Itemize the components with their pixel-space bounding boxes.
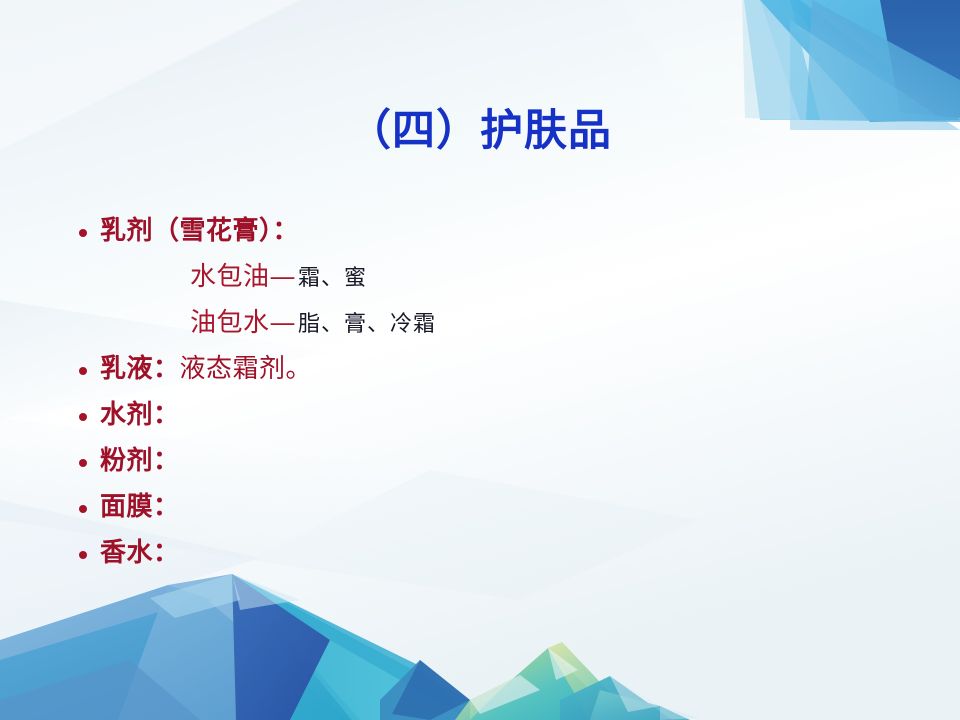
- list-item-label: 乳剂（雪花膏）：: [100, 210, 299, 247]
- list-item[interactable]: 面膜：: [70, 486, 900, 532]
- bullet-dot-icon: [70, 498, 100, 520]
- bullet-dot-icon: [70, 452, 100, 474]
- slide-content: （四）护肤品 乳剂（雪花膏）： 水包油— 霜、蜜 油包水— 脂、膏、冷霜 乳液：…: [0, 0, 960, 720]
- list-item-label-detail: 液态霜剂。: [180, 354, 313, 384]
- list-item[interactable]: 粉剂：: [70, 440, 900, 486]
- sub-list-item: 油包水— 脂、膏、冷霜: [70, 302, 900, 348]
- page-title: （四）护肤品: [0, 96, 960, 158]
- list-item-label: 粉剂：: [100, 440, 180, 477]
- bullet-dot-icon: [70, 544, 100, 566]
- sub-item-lead: 油包水—: [190, 302, 296, 339]
- sub-item-tail: 脂、膏、冷霜: [298, 306, 436, 338]
- bullet-dot-icon: [70, 360, 100, 382]
- bullet-dot-icon: [70, 222, 100, 244]
- sub-item-tail: 霜、蜜: [298, 260, 367, 292]
- list-item[interactable]: 水剂：: [70, 394, 900, 440]
- list-item[interactable]: 香水：: [70, 532, 900, 578]
- list-item-label: 水剂：: [100, 394, 180, 431]
- list-item-label: 面膜：: [100, 486, 180, 523]
- list-item[interactable]: 乳剂（雪花膏）：: [70, 210, 900, 256]
- bullet-list: 乳剂（雪花膏）： 水包油— 霜、蜜 油包水— 脂、膏、冷霜 乳液：液态霜剂。 水…: [70, 210, 900, 578]
- list-item-label: 乳液：液态霜剂。: [100, 348, 312, 385]
- list-item-label: 香水：: [100, 532, 180, 569]
- list-item-label-text: 乳液：: [100, 354, 180, 384]
- bullet-dot-icon: [70, 406, 100, 428]
- list-item[interactable]: 乳液：液态霜剂。: [70, 348, 900, 394]
- presentation-slide: （四）护肤品 乳剂（雪花膏）： 水包油— 霜、蜜 油包水— 脂、膏、冷霜 乳液：…: [0, 0, 960, 720]
- sub-list-item: 水包油— 霜、蜜: [70, 256, 900, 302]
- sub-item-lead: 水包油—: [190, 256, 296, 293]
